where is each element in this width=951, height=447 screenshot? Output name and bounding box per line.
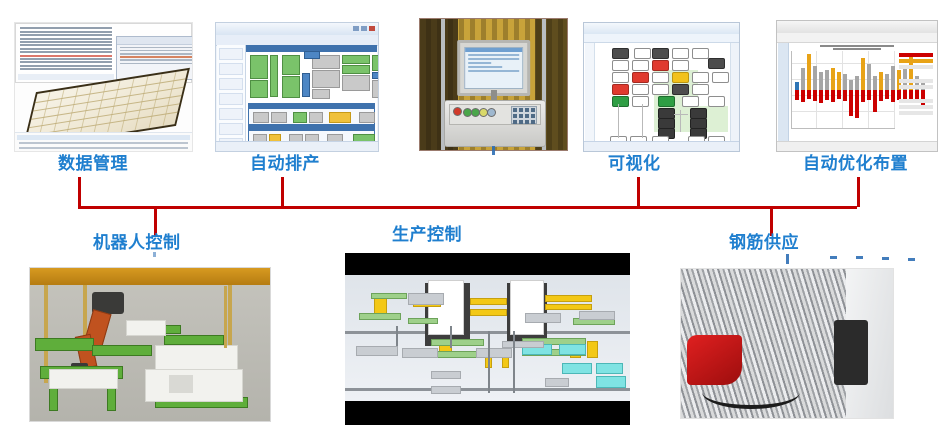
control-console (444, 100, 547, 147)
overhead-beam (30, 268, 270, 285)
resource-strip-1 (248, 103, 375, 125)
label-production-control: 生产控制 (392, 226, 462, 243)
thumb-data-management[interactable] (14, 22, 193, 152)
concrete-slab-1 (49, 369, 118, 389)
thumb-auto-layout[interactable] (776, 20, 938, 152)
navigation-pane (217, 45, 246, 141)
thumb-auto-scheduling[interactable] (215, 22, 379, 152)
thumb-visualization[interactable] (583, 22, 740, 152)
station-cyan-5 (596, 376, 627, 388)
pallet-10 (545, 378, 570, 386)
connector-drop-rebar-supply (770, 206, 773, 236)
pallet-1 (356, 346, 398, 357)
status-bar (216, 141, 378, 151)
station-cyan-3 (562, 363, 593, 374)
pallet-4 (431, 371, 462, 379)
column-4 (396, 326, 398, 346)
dash-marker-1 (830, 256, 837, 259)
toolbar-strip (18, 74, 114, 80)
connector-drop-robot-control (154, 206, 157, 236)
gantry-yellow-1 (470, 298, 506, 305)
slab-opening (169, 375, 193, 393)
conveyor-green-1 (359, 313, 401, 320)
plant-scene (345, 275, 630, 401)
conveyor-table-1 (35, 338, 95, 351)
pallet-9 (525, 313, 561, 323)
connector-trunk (78, 206, 857, 209)
keypad (511, 106, 537, 124)
control-station-tick (492, 146, 495, 155)
feeder-head (834, 320, 868, 386)
label-data-management: 数据管理 (58, 155, 128, 172)
photo-robot-cell[interactable] (29, 267, 271, 422)
robot-control-tick (153, 252, 156, 257)
concrete-slab-3 (145, 369, 243, 402)
label-visualization: 可视化 (608, 155, 661, 172)
conveyor-green-2 (371, 293, 407, 299)
dash-marker-4 (908, 258, 915, 261)
status-bar (584, 141, 739, 151)
chart-title-placeholder (777, 43, 937, 51)
concrete-slab-2 (155, 345, 239, 371)
gantry-yellow-4 (545, 304, 593, 310)
connector-riser-data-management (78, 177, 81, 207)
emergency-stop-button (453, 107, 462, 116)
ribbon-bar (777, 33, 937, 43)
chart-legend (898, 51, 934, 129)
pallet-6 (502, 341, 544, 348)
pallet-2 (402, 348, 438, 358)
gantry-yellow-2 (470, 309, 506, 316)
bar-chart-plot (791, 51, 895, 129)
flow-canvas (596, 44, 729, 141)
hmi-monitor (457, 40, 531, 96)
rebar-supply-tick (786, 254, 789, 264)
pallet-5 (431, 386, 462, 394)
photo-control-station[interactable] (419, 18, 568, 151)
conveyor-green-3 (431, 339, 484, 346)
dash-marker-3 (882, 257, 889, 260)
connector-riser-auto-scheduling (281, 177, 284, 207)
pallet-8 (408, 293, 444, 305)
label-robot-control: 机器人控制 (93, 234, 181, 251)
left-rail (585, 43, 595, 141)
diagram-canvas: 数据管理 自动排产 可视化 自动优化布置 机器人控制 生产控制 钢筋供应 (0, 0, 951, 447)
concrete-slab-4 (126, 320, 166, 336)
hall-block-1 (428, 280, 464, 335)
label-rebar-supply: 钢筋供应 (729, 234, 799, 251)
station-cyan-4 (596, 363, 624, 374)
menu-bar (584, 34, 739, 43)
status-bar (777, 141, 937, 151)
label-auto-layout: 自动优化布置 (803, 155, 908, 172)
drag-chain (702, 375, 800, 409)
conveyor-table-3 (92, 345, 152, 356)
gantry-yellow-3 (545, 295, 593, 302)
status-footer (15, 132, 192, 151)
label-auto-scheduling: 自动排产 (250, 155, 320, 172)
conveyor-table-5 (164, 335, 224, 345)
gantry-yellow-9 (587, 341, 598, 358)
code-pane (18, 26, 114, 72)
pallet-7 (579, 311, 615, 321)
connector-riser-visualization (637, 177, 640, 207)
column-3 (450, 326, 452, 349)
column-2 (513, 331, 515, 394)
conveyor-green-8 (408, 318, 439, 324)
hall-block-2 (510, 280, 543, 335)
photo-plant-layout[interactable] (345, 253, 630, 425)
column-1 (488, 331, 490, 394)
left-rail (778, 43, 789, 141)
connector-riser-auto-layout (857, 177, 860, 207)
hoist-cable (224, 286, 227, 347)
schedule-canvas (246, 45, 377, 141)
dash-marker-2 (856, 256, 863, 259)
station-cyan-2 (559, 344, 587, 355)
photo-rebar[interactable] (680, 268, 894, 419)
pallet-3 (476, 348, 512, 358)
vertical-scrollbar[interactable] (730, 43, 739, 141)
